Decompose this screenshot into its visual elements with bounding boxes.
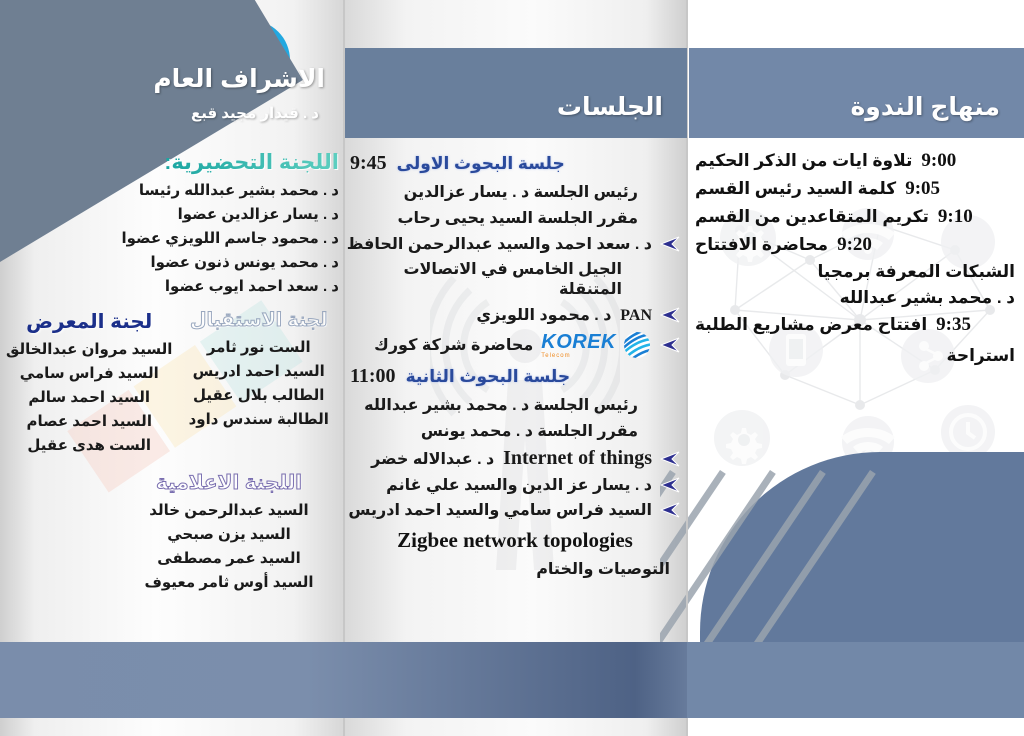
paper-speaker-name: د . عبدالاله خضر: [371, 451, 494, 468]
supervision-header-title: الاشراف العام: [153, 64, 325, 94]
paper-row: السيد فراس سامي والسيد احمد ادريس: [350, 500, 680, 520]
committee-member: السيد احمد ادريس: [178, 362, 339, 380]
session-1-rapporteur: مقرر الجلسة السيد يحيى رحاب: [350, 208, 680, 228]
program-item-time: 9:00: [921, 150, 956, 172]
session-2-name: جلسة البحوث الثانية: [406, 367, 571, 387]
break-label: استراحة: [695, 346, 1015, 366]
committee-member: السيد أوس ثامر معيوف: [119, 573, 339, 591]
arrow-bullet-icon: [660, 236, 680, 252]
paper-speaker: PAN د . محمود اللويزي: [476, 305, 652, 325]
preparatory-committee-title: اللجنة التحضيرية:: [6, 150, 339, 175]
program-item-time: 9:35: [936, 314, 971, 336]
paper-title: الجيل الخامس في الاتصالات المتنقلة: [350, 259, 680, 299]
committee-member: السيد يزن صبحي: [119, 525, 339, 543]
media-committee: اللجنة الاعلامية السيد عبدالرحمن خالد ال…: [119, 470, 339, 591]
supervision-header-subtitle: د . قيدار مجيد قبع: [191, 104, 319, 122]
paper-row: PAN د . محمود اللويزي: [350, 305, 680, 325]
arrow-bullet-icon: [660, 451, 680, 467]
committee-member: الطالبة سندس داود: [178, 410, 339, 428]
committee-member: السيد مروان عبدالخالق: [6, 340, 172, 358]
committee-member: السيد احمد عصام: [6, 412, 172, 430]
korek-tagline: Telecom: [541, 353, 570, 359]
paper-speaker: السيد فراس سامي والسيد احمد ادريس: [348, 500, 652, 520]
committee-member: د . محمد يونس ذنون عضوا: [6, 253, 339, 271]
program-item-exhibition: 9:35 افتتاح معرض مشاريع الطلبة: [695, 314, 1015, 336]
korek-lecture-label: محاضرة شركة كورك: [374, 335, 533, 355]
supervision-column: اللجنة التحضيرية: د . محمد بشير عبدالله …: [6, 150, 339, 597]
session-2-time: 11:00: [350, 365, 396, 388]
program-item-desc: تلاوة ايات من الذكر الحكيم: [695, 151, 912, 171]
paper-row: د . سعد احمد والسيد عبدالرحمن الحافظ: [350, 234, 680, 254]
header-sessions: الجلسات: [345, 48, 687, 138]
arrow-bullet-icon: [660, 477, 680, 493]
session-2-chair: رئيس الجلسة د . محمد بشير عبدالله: [350, 395, 680, 415]
korek-lecture-row: KOREK Telecom محاضرة شركة كورك: [350, 330, 680, 360]
program-item-time: 9:20: [837, 234, 872, 256]
session-1-name: جلسة البحوث الاولى: [397, 154, 565, 174]
sessions-header-title: الجلسات: [557, 92, 663, 122]
session-1-chair: رئيس الجلسة د . يسار عزالدين: [350, 182, 680, 202]
committee-member: د . سعد احمد ايوب عضوا: [6, 277, 339, 295]
sessions-column: 9:45 جلسة البحوث الاولى رئيس الجلسة د . …: [350, 150, 680, 585]
arrow-bullet-icon: [660, 307, 680, 323]
media-committee-title: اللجنة الاعلامية: [119, 470, 339, 495]
program-item-desc: كلمة السيد رئيس القسم: [695, 179, 896, 199]
session-1-time: 9:45: [350, 152, 387, 175]
arrow-bullet-icon: [660, 337, 680, 353]
paper-row: د . يسار عز الدين والسيد علي غانم: [350, 475, 680, 495]
committee-member: د . محمد بشير عبدالله رئيسا: [6, 181, 339, 199]
program-item-time: 9:05: [905, 178, 940, 200]
bottom-bar-program-segment: [687, 642, 1024, 718]
korek-globe-icon: [622, 330, 652, 360]
header-program: منهاج الندوة: [689, 48, 1024, 138]
exhibition-committee: لجنة المعرض السيد مروان عبدالخالق السيد …: [6, 309, 172, 460]
paper-row: Internet of things د . عبدالاله خضر: [350, 447, 680, 470]
session-1-heading: 9:45 جلسة البحوث الاولى: [350, 152, 680, 175]
brochure-page: منهاج الندوة الجلسات الاشراف العام د . ق…: [0, 0, 1024, 736]
committee-member: الست نور ثامر: [178, 338, 339, 356]
committee-member: د . محمود جاسم اللويزي عضوا: [6, 229, 339, 247]
exhibition-committee-title: لجنة المعرض: [6, 309, 172, 334]
korek-name: KOREK: [541, 332, 616, 352]
zigbee-topic: Zigbee network topologies: [350, 528, 680, 553]
reception-committee-title: لجنة الاستقبال: [178, 309, 339, 332]
paper-speaker: د . يسار عز الدين والسيد علي غانم: [386, 475, 652, 495]
arrow-bullet-icon: [660, 502, 680, 518]
paper-speaker: د . سعد احمد والسيد عبدالرحمن الحافظ: [347, 234, 652, 254]
paper-speaker: Internet of things د . عبدالاله خضر: [371, 447, 652, 470]
program-item-desc: محاضرة الافتتاح: [695, 235, 828, 255]
program-column: 9:00 تلاوة ايات من الذكر الحكيم 9:05 كلم…: [689, 150, 1015, 372]
opening-lecture-title: الشبكات المعرفة برمجيا: [695, 262, 1015, 282]
program-header-title: منهاج الندوة: [851, 92, 1000, 122]
diagonal-stripes-decoration: [660, 470, 960, 660]
committee-member: د . يسار عزالدين عضوا: [6, 205, 339, 223]
paper-title-en: PAN: [620, 307, 652, 324]
program-item: 9:05 كلمة السيد رئيس القسم: [695, 178, 1015, 200]
committee-member: السيد عبدالرحمن خالد: [119, 501, 339, 519]
program-item: 9:00 تلاوة ايات من الذكر الحكيم: [695, 150, 1015, 172]
closing-label: التوصيات والختام: [350, 559, 680, 579]
committee-member: السيد عمر مصطفى: [119, 549, 339, 567]
program-item: 9:10 تكريم المتقاعدين من القسم: [695, 206, 1015, 228]
committee-member: الست هدى عقيل: [6, 436, 172, 454]
committee-member: السيد احمد سالم: [6, 388, 172, 406]
program-item-time: 9:10: [938, 206, 973, 228]
header-supervision: الاشراف العام د . قيدار مجيد قبع: [0, 48, 345, 138]
program-item-desc: افتتاح معرض مشاريع الطلبة: [695, 315, 927, 335]
program-item-desc: تكريم المتقاعدين من القسم: [695, 207, 929, 227]
reception-committee: لجنة الاستقبال الست نور ثامر السيد احمد …: [178, 309, 339, 460]
opening-lecture-speaker: د . محمد بشير عبدالله: [695, 288, 1015, 308]
committee-member: السيد فراس سامي: [6, 364, 172, 382]
committee-member: الطالب بلال عقيل: [178, 386, 339, 404]
paper-speaker-name: د . محمود اللويزي: [476, 307, 611, 324]
korek-logo: KOREK Telecom: [541, 330, 652, 360]
program-item: 9:20 محاضرة الافتتاح: [695, 234, 1015, 256]
session-2-heading: 11:00 جلسة البحوث الثانية: [350, 365, 680, 388]
session-2-rapporteur: مقرر الجلسة د . محمد يونس: [350, 421, 680, 441]
korek-wordmark: KOREK Telecom: [541, 332, 616, 359]
paper-title-en: Internet of things: [503, 447, 652, 469]
